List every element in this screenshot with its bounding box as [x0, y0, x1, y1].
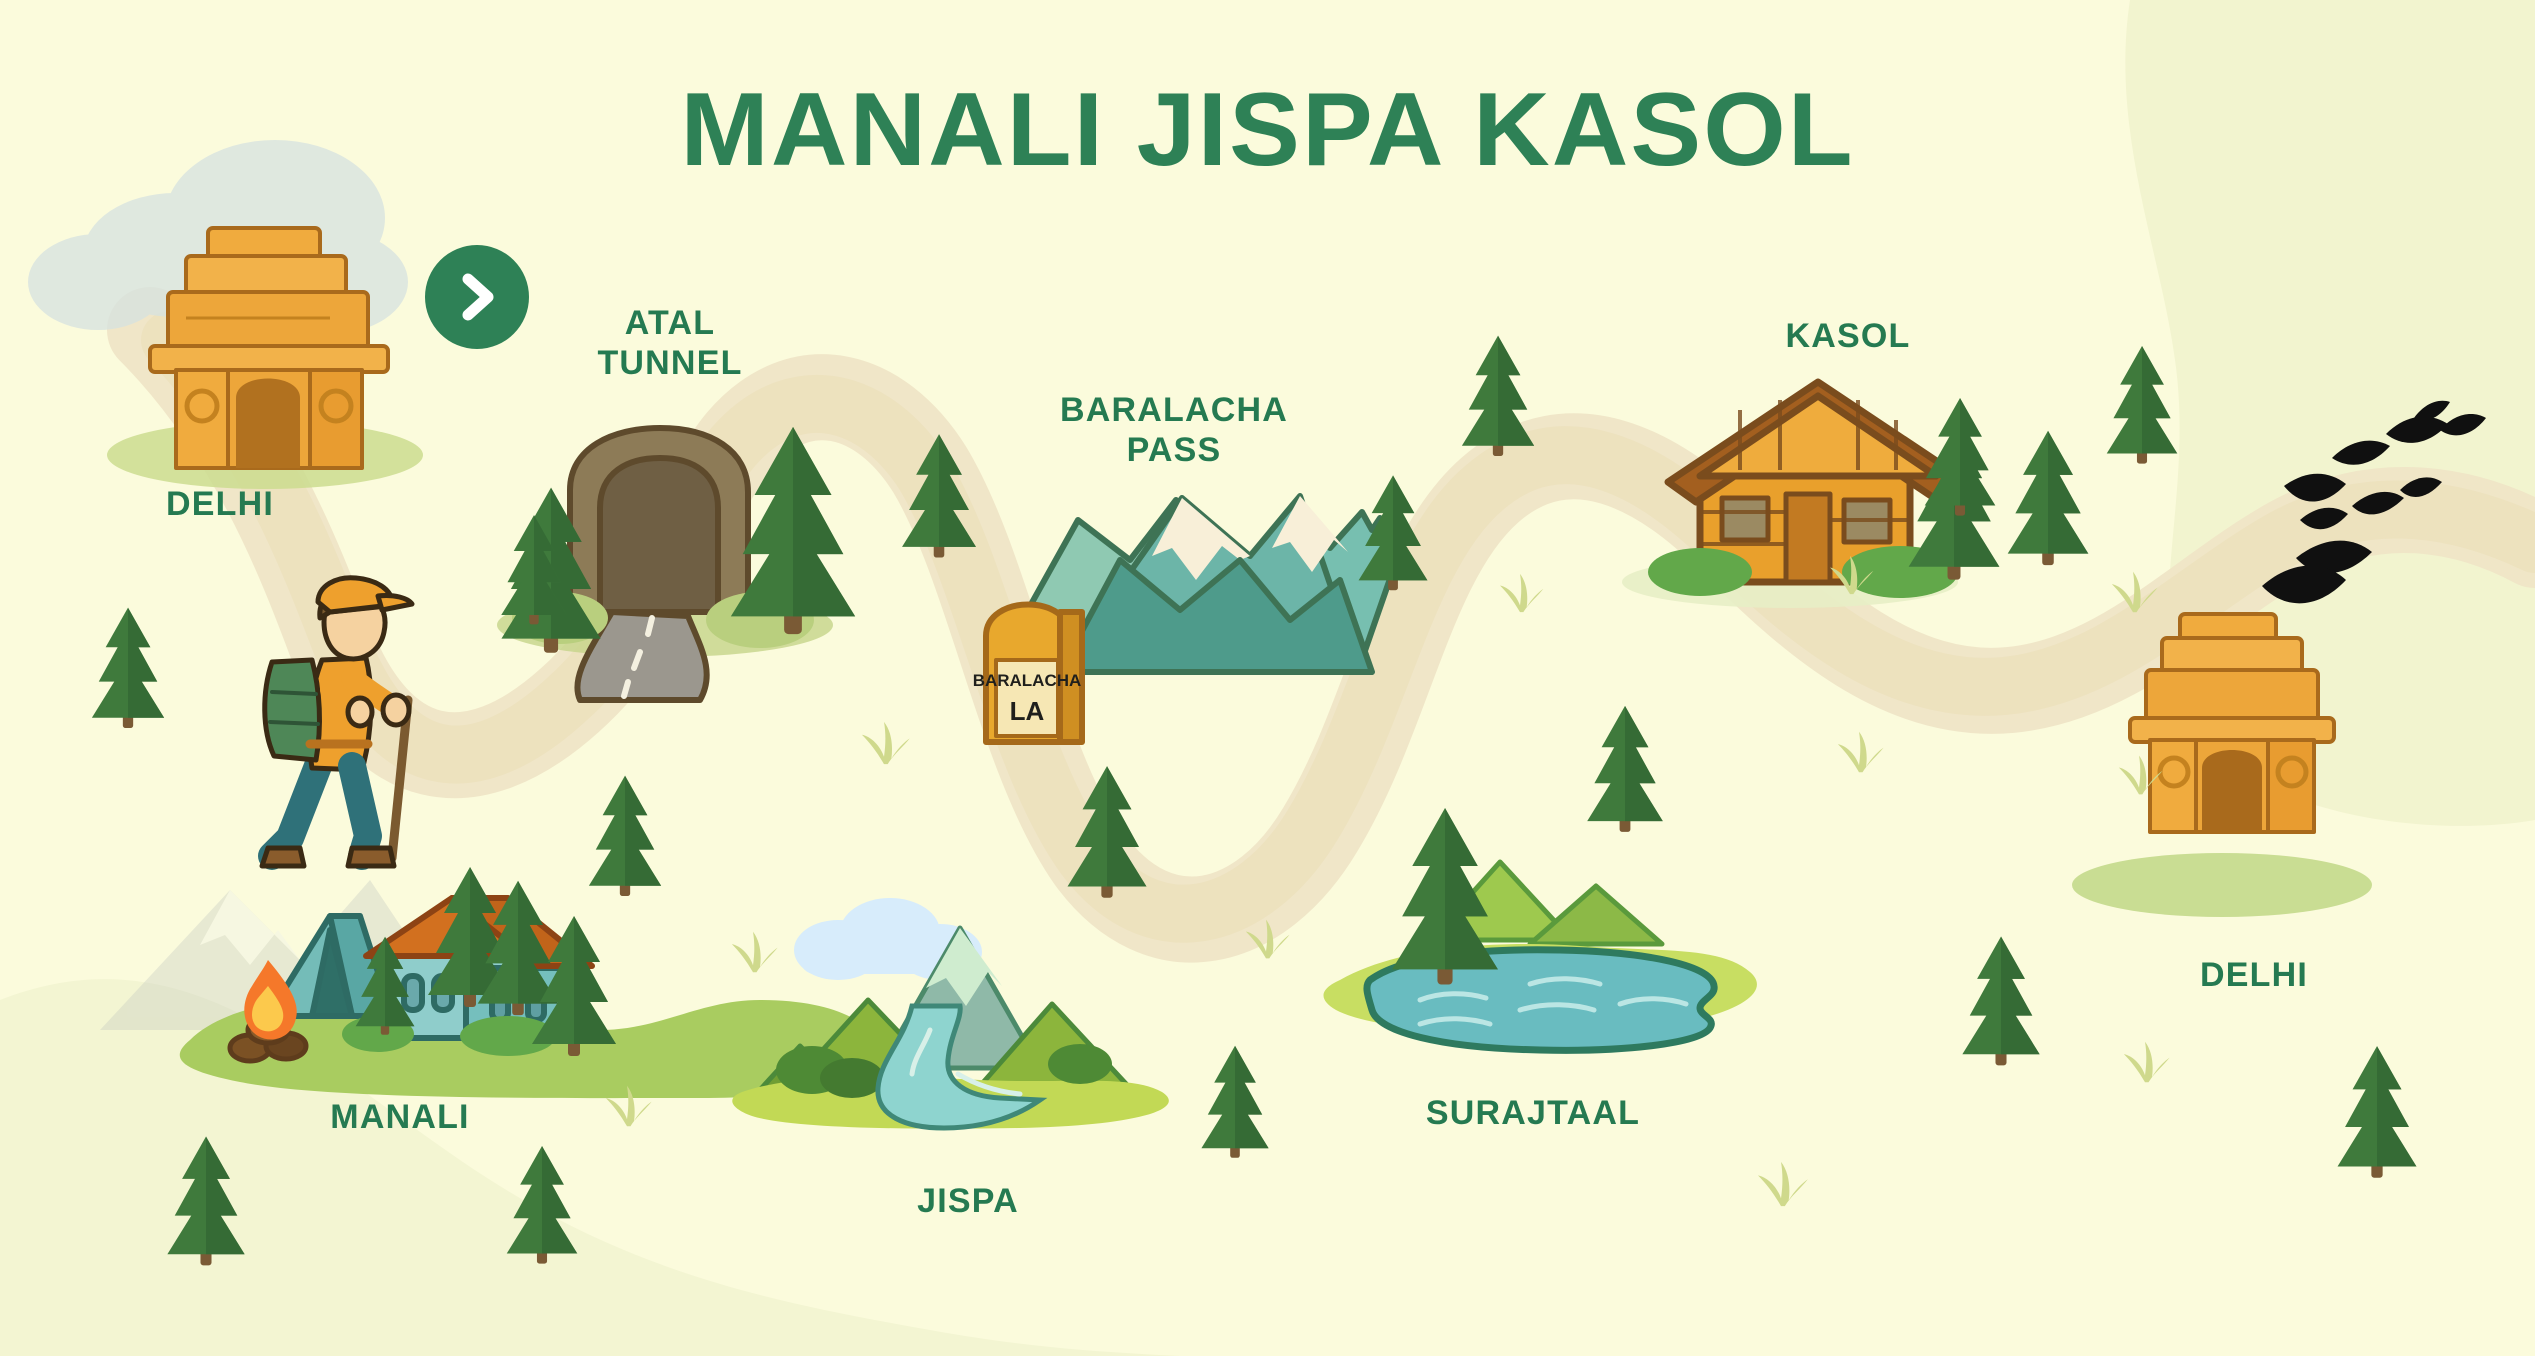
- stop-label-atal-tunnel[interactable]: ATAL TUNNEL: [597, 303, 742, 383]
- stop-illustration-surajtaal: [1324, 808, 1757, 1050]
- stop-label-manali[interactable]: MANALI: [330, 1097, 469, 1137]
- stop-illustration-baralacha: BARALACHA LA: [973, 496, 1400, 742]
- bird-flock-icon: [2262, 401, 2486, 604]
- milestone-line2: LA: [1010, 696, 1045, 726]
- stop-label-surajtaal[interactable]: SURAJTAAL: [1426, 1093, 1640, 1133]
- stop-label-jispa[interactable]: JISPA: [917, 1181, 1019, 1221]
- stop-label-delhi-end[interactable]: DELHI: [2200, 955, 2308, 995]
- stop-label-kasol[interactable]: KASOL: [1786, 316, 1911, 356]
- route-map-canvas: MANALI JISPA KASOL: [0, 0, 2535, 1356]
- milestone-line1: BARALACHA: [973, 671, 1082, 690]
- hiker-icon: [262, 578, 412, 866]
- illustration-layer: BARALACHA LA: [0, 0, 2535, 1356]
- stop-label-delhi-start[interactable]: DELHI: [166, 484, 274, 524]
- stop-illustration-delhi-end: [2072, 614, 2372, 917]
- stop-illustration-atal-tunnel: [497, 427, 855, 700]
- stop-illustration-delhi-start: [28, 140, 423, 489]
- stop-label-baralacha[interactable]: BARALACHA PASS: [1060, 390, 1288, 470]
- stop-illustration-manali: [100, 867, 881, 1098]
